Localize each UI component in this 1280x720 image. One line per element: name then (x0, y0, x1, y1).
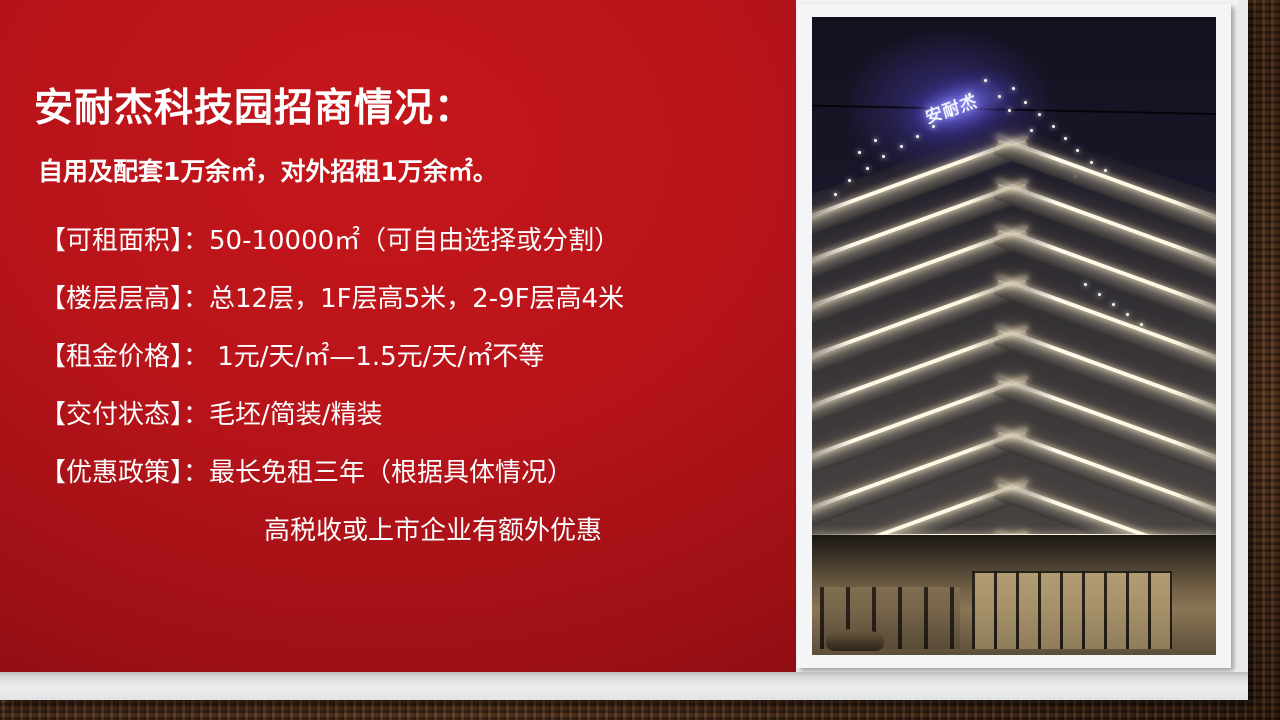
roof-point-light (1024, 101, 1027, 104)
roof-point-light (1064, 137, 1067, 140)
roof-point-light (834, 193, 837, 196)
roof-point-light (1076, 149, 1079, 152)
roof-point-light (1052, 125, 1055, 128)
roof-point-light (984, 79, 987, 82)
roof-point-light (1030, 129, 1033, 132)
roof-point-light (1038, 113, 1041, 116)
roof-point-light (882, 155, 885, 158)
list-item: 高税收或上市企业有额外优惠 (40, 502, 796, 560)
entrance-planter (826, 629, 884, 651)
building-night-photo: 安耐杰 (812, 17, 1216, 655)
roof-point-light (1084, 283, 1087, 286)
list-item: 【可租面积】：50-10000㎡（可自由选择或分割） (40, 212, 796, 270)
list-item: 【租金价格】： 1元/天/㎡—1.5元/天/㎡不等 (40, 328, 796, 386)
list-item: 【楼层层高】：总12层，1F层高5米，2-9F层高4米 (40, 270, 796, 328)
slide-backdrop: 安耐杰科技园招商情况： 自用及配套1万余㎡，对外招租1万余㎡。 【可租面积】：5… (0, 0, 1280, 720)
slide-bottom-bar (0, 672, 1248, 700)
roof-point-light (1140, 323, 1143, 326)
roof-point-light (968, 93, 971, 96)
roof-point-light (998, 95, 1001, 98)
lobby-glass-entrance (972, 571, 1172, 649)
roof-point-light (932, 125, 935, 128)
roof-point-light (1008, 109, 1011, 112)
roof-point-light (916, 135, 919, 138)
detail-list: 【可租面积】：50-10000㎡（可自由选择或分割） 【楼层层高】：总12层，1… (40, 212, 796, 560)
ground-floor (812, 535, 1216, 655)
roof-point-light (950, 113, 953, 116)
roof-point-light (1090, 161, 1093, 164)
slide-surface: 安耐杰科技园招商情况： 自用及配套1万余㎡，对外招租1万余㎡。 【可租面积】：5… (0, 0, 1248, 700)
roof-point-light (1098, 293, 1101, 296)
red-content-panel: 安耐杰科技园招商情况： 自用及配套1万余㎡，对外招租1万余㎡。 【可租面积】：5… (0, 0, 796, 672)
text-block: 安耐杰科技园招商情况： 自用及配套1万余㎡，对外招租1万余㎡。 【可租面积】：5… (0, 0, 796, 672)
roof-point-light (1112, 303, 1115, 306)
list-item: 【交付状态】：毛坯/简装/精装 (40, 386, 796, 444)
list-item: 【优惠政策】：最长免租三年（根据具体情况） (40, 444, 796, 502)
page-title: 安耐杰科技园招商情况： (34, 88, 474, 131)
roof-point-light (1104, 169, 1107, 172)
roof-point-light (900, 145, 903, 148)
roof-point-light (858, 151, 861, 154)
roof-point-light (866, 167, 869, 170)
photo-frame: 安耐杰 (797, 4, 1231, 668)
roof-point-light (874, 139, 877, 142)
roof-point-light (848, 179, 851, 182)
roof-point-light (1126, 313, 1129, 316)
subtitle: 自用及配套1万余㎡，对外招租1万余㎡。 (38, 158, 498, 186)
roof-point-light (1012, 87, 1015, 90)
